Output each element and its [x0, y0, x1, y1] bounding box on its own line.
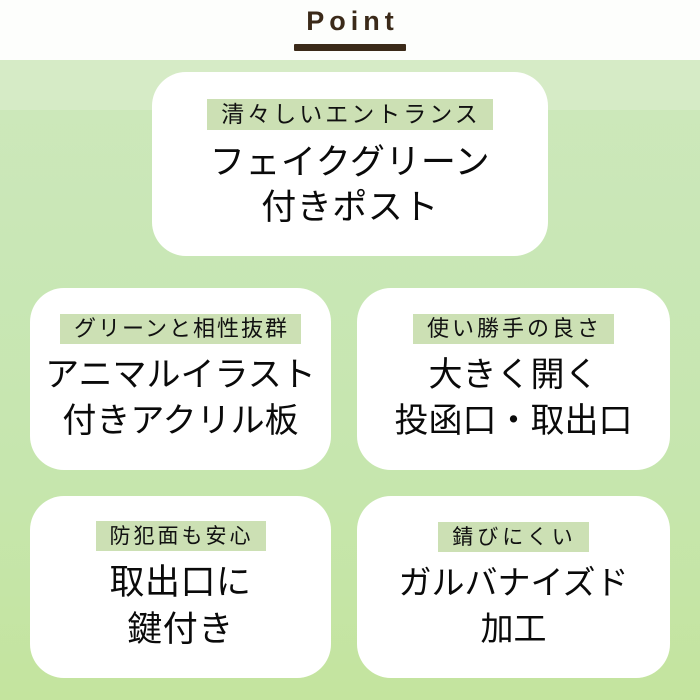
feature-card-1: 清々しいエントランス フェイクグリーン 付きポスト	[152, 72, 548, 256]
feature-description: アニマルイラスト 付きアクリル板	[45, 352, 316, 444]
header: Point	[0, 4, 700, 51]
title-underline	[294, 44, 406, 51]
feature-card-4: 防犯面も安心 取出口に 鍵付き	[30, 496, 331, 678]
feature-description: 大きく開く 投函口・取出口	[395, 352, 633, 444]
page-title: Point	[0, 4, 700, 38]
feature-description: ガルバナイズド 加工	[398, 560, 628, 652]
feature-tag: 使い勝手の良さ	[413, 314, 614, 344]
point-feature-infographic: Point 清々しいエントランス フェイクグリーン 付きポスト グリーンと相性抜…	[0, 0, 700, 700]
feature-tag: 防犯面も安心	[96, 521, 266, 551]
feature-tag: 清々しいエントランス	[207, 99, 493, 130]
feature-description: フェイクグリーン 付きポスト	[210, 140, 490, 230]
feature-card-2: グリーンと相性抜群 アニマルイラスト 付きアクリル板	[30, 288, 331, 470]
feature-card-5: 錆びにくい ガルバナイズド 加工	[357, 496, 670, 678]
feature-description: 取出口に 鍵付き	[109, 559, 251, 653]
feature-tag: 錆びにくい	[438, 522, 589, 552]
feature-card-3: 使い勝手の良さ 大きく開く 投函口・取出口	[357, 288, 670, 470]
feature-tag: グリーンと相性抜群	[60, 314, 301, 344]
